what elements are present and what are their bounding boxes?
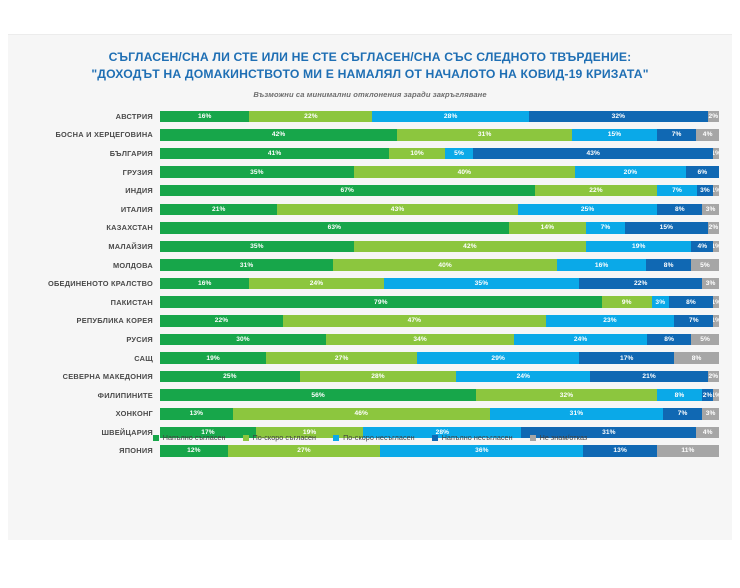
chart-row-label: СЕВЕРНА МАКЕДОНИЯ (8, 372, 160, 381)
chart-segment: 4% (691, 241, 713, 253)
chart-row-bar: 21%43%25%8%3% (160, 204, 719, 216)
chart-row-label: АВСТРИЯ (8, 112, 160, 121)
chart-row-label: ОБЕДИНЕНОТО КРАЛСТВО (8, 279, 160, 288)
chart-row: САЩ19%27%29%17%8% (8, 349, 732, 368)
chart-row: ХОНКОНГ13%46%31%7%3% (8, 405, 732, 424)
chart-segment-value: 2% (709, 373, 719, 380)
chart-segment: 24% (249, 278, 383, 290)
chart-segment-value: 8% (692, 355, 702, 362)
chart-segment-value: 79% (374, 299, 388, 306)
chart-segment-value: 28% (371, 373, 385, 380)
chart-row: МАЛАЙЗИЯ35%42%19%4%1% (8, 237, 732, 256)
chart-segment-value: 22% (589, 187, 603, 194)
chart-segment: 2% (708, 111, 719, 123)
chart-segment: 8% (674, 352, 719, 364)
chart-segment-value: 1% (713, 299, 719, 306)
chart-row-bar: 22%47%23%7%1% (160, 315, 719, 327)
chart-segment-value: 8% (664, 336, 674, 343)
chart-segment: 27% (266, 352, 417, 364)
chart-segment: 22% (249, 111, 372, 123)
chart-segment: 67% (160, 185, 535, 197)
chart-segment: 3% (702, 278, 719, 290)
chart-segment: 36% (380, 445, 583, 457)
chart-segment: 1% (713, 315, 719, 327)
chart-row: АВСТРИЯ16%22%28%32%2% (8, 107, 732, 126)
chart-segment: 19% (160, 352, 266, 364)
chart-segment: 24% (456, 371, 590, 383)
chart-segment-value: 40% (458, 169, 472, 176)
chart-segment-value: 20% (624, 169, 638, 176)
chart-segment-value: 13% (190, 410, 204, 417)
stacked-bar-chart: АВСТРИЯ16%22%28%32%2%БОСНА И ХЕРЦЕГОВИНА… (8, 107, 732, 460)
chart-row-label: РУСИЯ (8, 335, 160, 344)
chart-segment-value: 22% (304, 113, 318, 120)
chart-segment: 5% (691, 259, 719, 271)
chart-row-bar: 31%40%16%8%5% (160, 259, 719, 271)
legend-swatch-icon (530, 435, 536, 441)
chart-segment: 34% (326, 334, 514, 346)
chart-segment: 15% (625, 222, 708, 234)
chart-segment: 7% (674, 315, 713, 327)
chart-segment-value: 24% (574, 336, 588, 343)
chart-segment: 31% (397, 129, 572, 141)
chart-segment: 27% (228, 445, 380, 457)
legend-swatch-icon (153, 435, 159, 441)
chart-segment-value: 7% (678, 410, 688, 417)
chart-segment: 8% (657, 204, 702, 216)
chart-segment: 16% (557, 259, 646, 271)
chart-row-bar: 35%42%19%4%1% (160, 241, 719, 253)
chart-segment: 42% (354, 241, 586, 253)
legend-swatch-icon (432, 435, 438, 441)
chart-row-bar: 16%22%28%32%2% (160, 111, 719, 123)
chart-segment-value: 31% (570, 410, 584, 417)
chart-row-label: БОСНА И ХЕРЦЕГОВИНА (8, 130, 160, 139)
chart-segment: 63% (160, 222, 509, 234)
chart-segment: 22% (160, 315, 283, 327)
chart-segment: 1% (713, 241, 719, 253)
chart-segment: 41% (160, 148, 389, 160)
chart-segment: 2% (702, 389, 713, 401)
chart-segment-value: 8% (675, 206, 685, 213)
chart-row-label: ГРУЗИЯ (8, 168, 160, 177)
chart-segment-value: 24% (310, 280, 324, 287)
chart-row-label: ИНДИЯ (8, 186, 160, 195)
chart-segment-value: 43% (391, 206, 405, 213)
chart-segment: 13% (583, 445, 656, 457)
chart-segment: 17% (579, 352, 674, 364)
chart-segment-value: 13% (613, 447, 627, 454)
chart-segment-value: 3% (700, 187, 710, 194)
chart-segment-value: 8% (686, 299, 696, 306)
chart-segment: 35% (160, 166, 354, 178)
bottom-band (0, 540, 740, 588)
chart-title: СЪГЛАСЕН/СНА ЛИ СТЕ ИЛИ НЕ СТЕ СЪГЛАСЕН/… (8, 49, 732, 83)
chart-row-label: САЩ (8, 354, 160, 363)
chart-segment: 19% (586, 241, 691, 253)
chart-segment-value: 40% (438, 262, 452, 269)
chart-segment-value: 29% (491, 355, 505, 362)
chart-segment-value: 5% (700, 262, 710, 269)
chart-row-label: ФИЛИПИНИТЕ (8, 391, 160, 400)
chart-segment-value: 28% (444, 113, 458, 120)
chart-row: ИТАЛИЯ21%43%25%8%3% (8, 200, 732, 219)
chart-segment: 22% (535, 185, 658, 197)
chart-row: МОЛДОВА31%40%16%8%5% (8, 256, 732, 275)
chart-segment-value: 32% (612, 113, 626, 120)
chart-row-label: БЪЛГАРИЯ (8, 149, 160, 158)
chart-segment: 31% (160, 259, 333, 271)
chart-row: СЕВЕРНА МАКЕДОНИЯ25%28%24%21%2% (8, 367, 732, 386)
chart-segment: 20% (575, 166, 686, 178)
chart-segment-value: 24% (517, 373, 531, 380)
chart-segment: 16% (160, 111, 249, 123)
chart-segment: 8% (669, 296, 714, 308)
chart-segment-value: 5% (700, 336, 710, 343)
chart-segment: 21% (160, 204, 277, 216)
chart-segment-value: 34% (413, 336, 427, 343)
chart-segment-value: 25% (223, 373, 237, 380)
legend-swatch-icon (243, 435, 249, 441)
chart-segment-value: 23% (603, 317, 617, 324)
chart-segment: 35% (160, 241, 354, 253)
chart-segment-value: 36% (475, 447, 489, 454)
chart-segment: 1% (713, 389, 719, 401)
legend-item[interactable]: Напълно съгласен (153, 433, 226, 442)
chart-row-bar: 30%34%24%8%5% (160, 334, 719, 346)
chart-row-label: МОЛДОВА (8, 261, 160, 270)
chart-segment: 40% (333, 259, 557, 271)
chart-row-label: ЯПОНИЯ (8, 446, 160, 455)
chart-segment: 10% (389, 148, 445, 160)
chart-segment-value: 14% (541, 224, 555, 231)
chart-segment: 15% (572, 129, 657, 141)
chart-row-bar: 12%27%36%13%11% (160, 445, 719, 457)
chart-row: ПАКИСТАН79%9%3%8%1% (8, 293, 732, 312)
chart-segment-value: 56% (311, 392, 325, 399)
chart-segment-value: 47% (408, 317, 422, 324)
chart-segment-value: 21% (212, 206, 226, 213)
chart-segment: 46% (233, 408, 490, 420)
chart-segment-value: 16% (198, 280, 212, 287)
legend-label: Напълно съгласен (163, 433, 226, 442)
chart-segment: 25% (518, 204, 658, 216)
chart-segment-value: 21% (642, 373, 656, 380)
chart-segment-value: 15% (660, 224, 674, 231)
chart-row: БЪЛГАРИЯ41%10%5%43%1% (8, 144, 732, 163)
chart-segment-value: 4% (703, 131, 713, 138)
chart-row: ОБЕДИНЕНОТО КРАЛСТВО16%24%35%22%3% (8, 274, 732, 293)
chart-segment: 4% (696, 129, 719, 141)
chart-segment-value: 1% (713, 150, 719, 157)
chart-segment-value: 7% (601, 224, 611, 231)
chart-segment: 2% (708, 371, 719, 383)
chart-segment-value: 2% (703, 392, 713, 399)
chart-segment-value: 4% (698, 243, 708, 250)
chart-row: БОСНА И ХЕРЦЕГОВИНА42%31%15%7%4% (8, 126, 732, 145)
chart-row-bar: 67%22%7%3%1% (160, 185, 719, 197)
chart-segment: 56% (160, 389, 476, 401)
chart-segment-value: 35% (250, 243, 264, 250)
slide-root: СЪГЛАСЕН/СНА ЛИ СТЕ ИЛИ НЕ СТЕ СЪГЛАСЕН/… (0, 0, 740, 588)
chart-row: ИНДИЯ67%22%7%3%1% (8, 181, 732, 200)
chart-segment-value: 31% (240, 262, 254, 269)
chart-segment: 12% (160, 445, 228, 457)
chart-row-label: КАЗАХСТАН (8, 223, 160, 232)
chart-segment: 7% (586, 222, 625, 234)
title-line-2: "ДОХОДЪТ НА ДОМАКИНСТВОТО МИ Е НАМАЛЯЛ О… (8, 66, 732, 83)
chart-segment: 32% (476, 389, 657, 401)
legend-item[interactable]: Не знам/отказ (530, 433, 588, 442)
chart-segment-value: 31% (478, 131, 492, 138)
chart-legend: Напълно съгласенПо-скоро съгласенПо-скор… (8, 433, 732, 442)
chart-segment-value: 43% (586, 150, 600, 157)
chart-segment: 40% (354, 166, 575, 178)
chart-row: КАЗАХСТАН63%14%7%15%2% (8, 219, 732, 238)
chart-segment-value: 32% (560, 392, 574, 399)
chart-segment-value: 15% (608, 131, 622, 138)
chart-row-bar: 63%14%7%15%2% (160, 222, 719, 234)
chart-segment: 3% (702, 204, 719, 216)
chart-segment-value: 8% (675, 392, 685, 399)
slide-card: СЪГЛАСЕН/СНА ЛИ СТЕ ИЛИ НЕ СТЕ СЪГЛАСЕН/… (8, 34, 732, 541)
chart-segment: 5% (691, 334, 719, 346)
chart-segment-value: 42% (463, 243, 477, 250)
chart-segment: 79% (160, 296, 602, 308)
chart-segment-value: 3% (706, 280, 716, 287)
legend-label: По-скоро несъгласен (343, 433, 415, 442)
chart-segment-value: 19% (632, 243, 646, 250)
chart-segment-value: 42% (272, 131, 286, 138)
chart-row-bar: 41%10%5%43%1% (160, 148, 719, 160)
chart-segment: 47% (283, 315, 546, 327)
chart-segment: 1% (713, 296, 719, 308)
chart-segment: 43% (277, 204, 517, 216)
chart-segment-value: 7% (672, 131, 682, 138)
chart-row-label: ХОНКОНГ (8, 409, 160, 418)
chart-segment-value: 46% (354, 410, 368, 417)
chart-segment-value: 12% (187, 447, 201, 454)
chart-segment-value: 22% (634, 280, 648, 287)
chart-segment-value: 7% (672, 187, 682, 194)
legend-swatch-icon (333, 435, 339, 441)
chart-row-label: МАЛАЙЗИЯ (8, 242, 160, 251)
chart-segment: 3% (702, 408, 719, 420)
chart-segment: 3% (652, 296, 669, 308)
legend-label: Не знам/отказ (540, 433, 588, 442)
chart-segment: 22% (579, 278, 702, 290)
chart-row-label: ИТАЛИЯ (8, 205, 160, 214)
chart-row-bar: 35%40%20%6% (160, 166, 719, 178)
chart-segment: 3% (697, 185, 714, 197)
chart-segment-value: 3% (706, 410, 716, 417)
chart-segment: 9% (602, 296, 652, 308)
chart-row-bar: 16%24%35%22%3% (160, 278, 719, 290)
chart-segment-value: 6% (698, 169, 708, 176)
chart-row-bar: 25%28%24%21%2% (160, 371, 719, 383)
chart-segment: 25% (160, 371, 300, 383)
chart-row-bar: 56%32%8%2%1% (160, 389, 719, 401)
chart-segment: 5% (445, 148, 473, 160)
chart-segment: 23% (546, 315, 675, 327)
title-line-1: СЪГЛАСЕН/СНА ЛИ СТЕ ИЛИ НЕ СТЕ СЪГЛАСЕН/… (8, 49, 732, 66)
chart-segment: 6% (686, 166, 719, 178)
chart-segment-value: 19% (206, 355, 220, 362)
chart-segment-value: 9% (622, 299, 632, 306)
chart-segment-value: 35% (250, 169, 264, 176)
chart-segment: 8% (646, 259, 691, 271)
chart-segment-value: 35% (475, 280, 489, 287)
chart-segment-value: 3% (706, 206, 716, 213)
chart-segment: 1% (713, 148, 719, 160)
chart-segment-value: 63% (328, 224, 342, 231)
chart-segment: 14% (509, 222, 586, 234)
legend-label: Напълно несъгласен (442, 433, 513, 442)
chart-row: РУСИЯ30%34%24%8%5% (8, 330, 732, 349)
chart-segment: 28% (300, 371, 457, 383)
chart-row-label: РЕПУБЛИКА КОРЕЯ (8, 316, 160, 325)
chart-segment: 30% (160, 334, 326, 346)
chart-segment: 7% (657, 129, 697, 141)
chart-segment-value: 10% (410, 150, 424, 157)
chart-segment-value: 2% (709, 224, 719, 231)
chart-segment-value: 3% (655, 299, 665, 306)
chart-segment-value: 16% (595, 262, 609, 269)
chart-row: ЯПОНИЯ12%27%36%13%11% (8, 442, 732, 461)
chart-segment: 32% (529, 111, 708, 123)
chart-segment-value: 22% (215, 317, 229, 324)
chart-segment-value: 5% (454, 150, 464, 157)
chart-segment: 8% (657, 389, 702, 401)
chart-row-label: ПАКИСТАН (8, 298, 160, 307)
chart-segment: 35% (384, 278, 580, 290)
chart-segment-value: 8% (664, 262, 674, 269)
chart-segment-value: 27% (297, 447, 311, 454)
legend-label: По-скоро съгласен (253, 433, 317, 442)
chart-segment-value: 67% (341, 187, 355, 194)
chart-row: ФИЛИПИНИТЕ56%32%8%2%1% (8, 386, 732, 405)
chart-segment-value: 17% (620, 355, 634, 362)
chart-row: ГРУЗИЯ35%40%20%6% (8, 163, 732, 182)
chart-segment-value: 2% (709, 113, 719, 120)
chart-segment: 7% (663, 408, 702, 420)
chart-segment: 16% (160, 278, 249, 290)
chart-row: РЕПУБЛИКА КОРЕЯ22%47%23%7%1% (8, 312, 732, 331)
chart-segment: 42% (160, 129, 397, 141)
chart-segment-value: 11% (681, 447, 694, 454)
chart-subtitle: Възможни са минимални отклонения заради … (8, 90, 732, 99)
chart-segment-value: 7% (689, 317, 699, 324)
chart-row-bar: 13%46%31%7%3% (160, 408, 719, 420)
top-band (0, 0, 740, 34)
chart-segment: 8% (647, 334, 691, 346)
chart-segment: 21% (590, 371, 707, 383)
legend-item[interactable]: По-скоро съгласен (243, 433, 317, 442)
chart-segment: 13% (160, 408, 233, 420)
chart-segment-value: 16% (198, 113, 212, 120)
chart-row-bar: 19%27%29%17%8% (160, 352, 719, 364)
chart-segment: 28% (372, 111, 529, 123)
chart-row-bar: 42%31%15%7%4% (160, 129, 719, 141)
chart-segment-value: 1% (713, 392, 719, 399)
chart-segment-value: 25% (581, 206, 595, 213)
chart-segment: 11% (657, 445, 719, 457)
chart-segment: 7% (657, 185, 696, 197)
chart-segment: 29% (417, 352, 579, 364)
legend-item[interactable]: По-скоро несъгласен (333, 433, 415, 442)
chart-segment: 1% (713, 185, 719, 197)
chart-segment: 43% (473, 148, 713, 160)
chart-segment-value: 27% (335, 355, 349, 362)
chart-segment: 2% (708, 222, 719, 234)
chart-segment: 31% (490, 408, 663, 420)
chart-segment-value: 1% (713, 243, 719, 250)
chart-segment-value: 30% (236, 336, 250, 343)
chart-segment: 24% (514, 334, 647, 346)
chart-row-bar: 79%9%3%8%1% (160, 296, 719, 308)
legend-item[interactable]: Напълно несъгласен (432, 433, 513, 442)
chart-segment-value: 41% (268, 150, 282, 157)
chart-segment-value: 1% (713, 187, 719, 194)
chart-segment-value: 1% (713, 317, 719, 324)
